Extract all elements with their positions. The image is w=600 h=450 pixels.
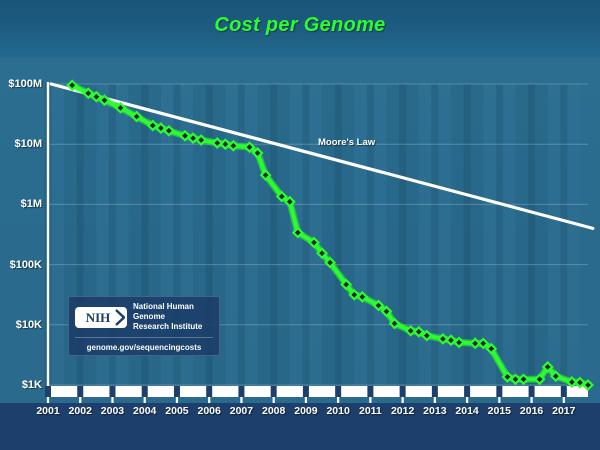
x-axis-gap	[206, 386, 212, 397]
x-axis-gap	[464, 386, 470, 397]
column-stripe	[270, 84, 277, 385]
x-tick-label: 2012	[391, 405, 414, 417]
column-stripe	[399, 84, 406, 385]
header-band: Cost per Genome	[0, 0, 600, 58]
x-axis-gap	[367, 386, 373, 397]
x-tick-label: 2016	[520, 405, 543, 417]
column-stripe	[528, 84, 535, 385]
column-stripe	[496, 84, 503, 385]
x-tick-label: 2001	[36, 405, 59, 417]
chevron-right-icon	[115, 309, 125, 326]
x-tick-label: 2010	[326, 405, 349, 417]
x-tick-label: 2017	[552, 405, 575, 417]
x-tick-label: 2004	[133, 405, 156, 417]
x-tick-label: 2006	[198, 405, 221, 417]
chart-screenshot: Cost per Genome $100M$10M$1M$100K$10K$1K…	[0, 0, 600, 450]
x-axis-gap	[561, 386, 567, 397]
column-stripe	[560, 84, 567, 385]
x-axis-gap	[529, 386, 535, 397]
x-tick-label: 2008	[262, 405, 285, 417]
x-tick-label: 2009	[294, 405, 317, 417]
x-tick-label: 2007	[230, 405, 253, 417]
x-axis-gap	[496, 386, 502, 397]
column-stripe	[335, 84, 342, 385]
column-stripe	[238, 84, 245, 385]
nih-logo-mark: NIH	[75, 307, 127, 328]
x-axis-gap	[238, 386, 244, 397]
x-tick-label: 2011	[359, 405, 382, 417]
y-tick-label: $100K	[10, 259, 42, 271]
x-axis-gap	[432, 386, 438, 397]
nih-wordmark: NIH	[86, 311, 117, 324]
x-axis-gap	[271, 386, 277, 397]
x-axis-gap	[142, 386, 148, 397]
nih-institute-line2: Research Institute	[133, 322, 213, 332]
x-tick-label: 2015	[488, 405, 511, 417]
x-axis-gap	[335, 386, 341, 397]
column-stripe	[367, 84, 374, 385]
x-axis-band	[48, 386, 588, 397]
y-tick-label: $10M	[14, 138, 42, 150]
moores-law-label: Moore's Law	[318, 137, 375, 148]
nih-institute-line1: National Human Genome	[133, 302, 213, 322]
x-tick-label: 2014	[455, 405, 478, 417]
nih-logo-row: NIH National Human Genome Research Insti…	[69, 297, 219, 334]
y-axis-labels: $100M$10M$1M$100K$10K$1K	[0, 58, 46, 403]
y-tick-label: $1M	[21, 198, 42, 210]
x-axis-gap	[400, 386, 406, 397]
x-axis-gap	[303, 386, 309, 397]
x-axis-labels: 2001200220032004200520062007200820092010…	[0, 403, 600, 427]
y-tick-label: $1K	[22, 379, 42, 391]
x-tick-label: 2003	[101, 405, 124, 417]
nih-logo-block: NIH National Human Genome Research Insti…	[68, 296, 220, 356]
y-tick-label: $100M	[8, 78, 42, 90]
x-tick-label: 2005	[165, 405, 188, 417]
nih-url: genome.gov/sequencingcosts	[75, 337, 213, 352]
nih-institute-name: National Human Genome Research Institute	[133, 302, 213, 332]
x-tick-label: 2013	[423, 405, 446, 417]
x-axis-gap	[109, 386, 115, 397]
page-title: Cost per Genome	[0, 14, 600, 37]
x-tick-label: 2002	[69, 405, 92, 417]
x-axis-gap	[174, 386, 180, 397]
y-tick-label: $10K	[16, 319, 42, 331]
x-axis-gap	[77, 386, 83, 397]
